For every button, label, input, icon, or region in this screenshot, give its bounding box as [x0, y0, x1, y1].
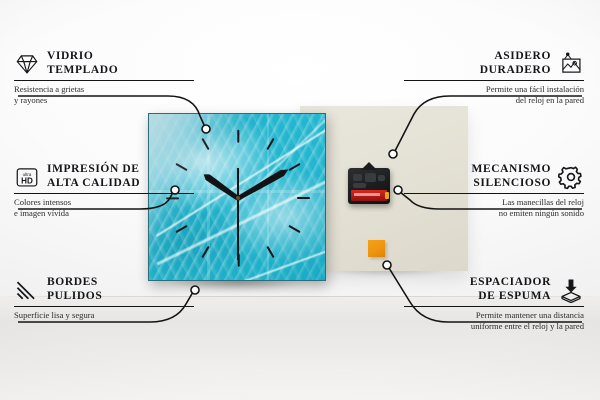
glass-reflection — [267, 114, 269, 281]
movement-detail — [353, 174, 362, 181]
feature-title: MECANISMO SILENCIOSO — [471, 163, 551, 190]
feature-description: Resistencia a grietas y rayones — [14, 84, 194, 105]
clock-second-hand — [237, 168, 238, 260]
feature-asidero-duradero: ASIDERO DURADERO Permite una fácil insta… — [404, 50, 584, 105]
feature-title: ASIDERO DURADERO — [480, 50, 551, 77]
clock-center-cap — [236, 196, 240, 200]
battery-label — [354, 193, 380, 196]
foam-spacer — [368, 240, 385, 257]
picture-hanger-icon — [558, 51, 584, 77]
feature-header: BORDES PULIDOS — [14, 276, 194, 303]
feature-rule — [404, 193, 584, 194]
movement-detail — [353, 183, 366, 188]
feature-title: VIDRIO TEMPLADO — [47, 50, 118, 77]
feature-description: Permite mantener una distancia uniforme … — [404, 310, 584, 331]
clock-movement — [348, 168, 390, 204]
feature-rule — [14, 193, 194, 194]
feature-header: ultra HD IMPRESIÓN DE ALTA CALIDAD — [14, 163, 194, 190]
feature-rule — [14, 306, 194, 307]
gear-icon — [558, 164, 584, 190]
feature-description: Permite una fácil instalación del reloj … — [404, 84, 584, 105]
infographic-canvas: VIDRIO TEMPLADO Resistencia a grietas y … — [0, 0, 600, 400]
feature-header: VIDRIO TEMPLADO — [14, 50, 194, 77]
feature-title: IMPRESIÓN DE ALTA CALIDAD — [47, 163, 140, 190]
movement-detail — [378, 175, 385, 181]
feature-description: Colores intensos e imagen vívida — [14, 197, 194, 218]
movement-detail — [365, 173, 376, 182]
feature-title: BORDES PULIDOS — [47, 276, 102, 303]
feature-rule — [404, 80, 584, 81]
feature-header: MECANISMO SILENCIOSO — [404, 163, 584, 190]
svg-text:HD: HD — [21, 176, 33, 185]
feature-mecanismo-silencioso: MECANISMO SILENCIOSO Las manecillas del … — [404, 163, 584, 218]
clock-tick — [237, 130, 239, 143]
feature-bordes-pulidos: BORDES PULIDOS Superficie lisa y segura — [14, 276, 194, 321]
feature-header: ASIDERO DURADERO — [404, 50, 584, 77]
feature-rule — [14, 80, 194, 81]
feature-header: ESPACIADOR DE ESPUMA — [404, 276, 584, 303]
battery-terminal — [385, 192, 389, 199]
feature-description: Las manecillas del reloj no emiten ningú… — [404, 197, 584, 218]
feature-title: ESPACIADOR DE ESPUMA — [470, 276, 551, 303]
feature-espaciador-de-espuma: ESPACIADOR DE ESPUMA Permite mantener un… — [404, 276, 584, 331]
feature-rule — [404, 306, 584, 307]
feature-vidrio-templado: VIDRIO TEMPLADO Resistencia a grietas y … — [14, 50, 194, 105]
glass-reflection — [207, 114, 210, 281]
battery — [351, 190, 387, 201]
foam-spacer-arrow-icon — [558, 277, 584, 303]
ultra-hd-badge-icon: ultra HD — [14, 164, 40, 190]
diamond-icon — [14, 51, 40, 77]
feature-impresion-alta-calidad: ultra HD IMPRESIÓN DE ALTA CALIDAD Color… — [14, 163, 194, 218]
polished-edges-icon — [14, 277, 40, 303]
feature-description: Superficie lisa y segura — [14, 310, 194, 321]
